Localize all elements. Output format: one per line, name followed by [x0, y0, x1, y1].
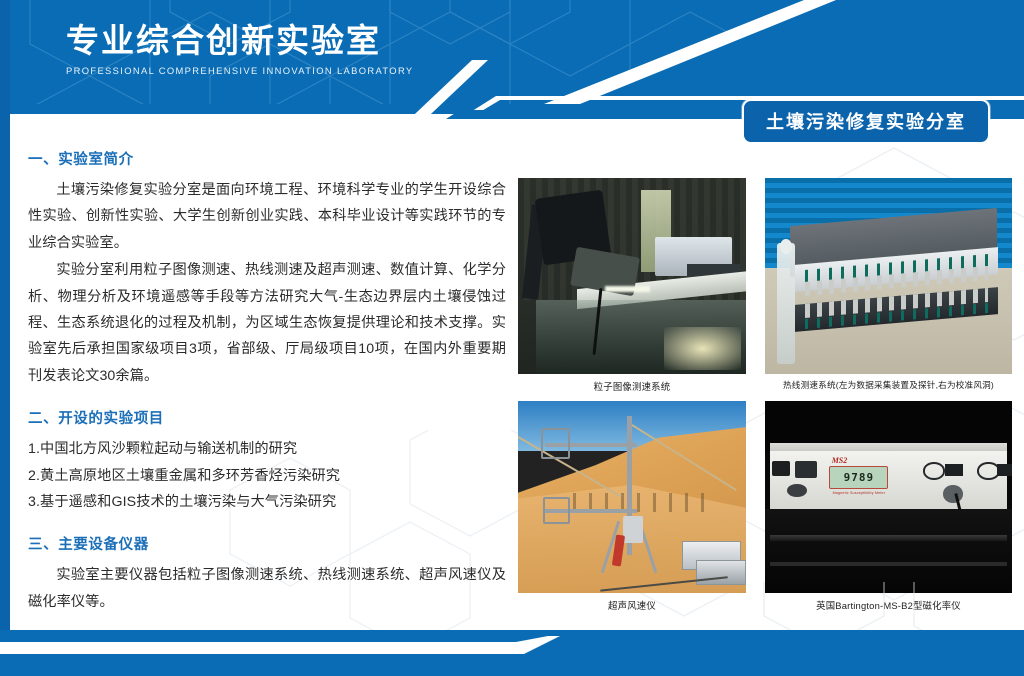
- page-header: 专业综合创新实验室 PROFESSIONAL COMPREHENSIVE INN…: [0, 0, 1024, 104]
- experiment-item-2: 2.黄土高原地区土壤重金属和多环芳香烃污染研究: [28, 463, 506, 489]
- photo-cell-ms2: MS2 9789 Magnetic Susceptibility Meter 英…: [765, 401, 1012, 612]
- title-block: 专业综合创新实验室 PROFESSIONAL COMPREHENSIVE INN…: [66, 22, 414, 76]
- left-accent-rail: [0, 0, 10, 676]
- content-area: 一、实验室简介 土壤污染修复实验分室是面向环境工程、环境科学专业的学生开设综合性…: [0, 130, 1024, 610]
- photo-sonic-anemometer: [518, 401, 746, 593]
- photo-row-top: 粒子图像测速系统 热线测速系统(左为数据采集装置及探针,右为校准风洞): [518, 178, 1012, 393]
- page-title: 专业综合创新实验室: [66, 22, 414, 60]
- ms2-brand-label: MS2: [832, 456, 848, 465]
- ms2-lcd: 9789: [829, 466, 888, 489]
- experiment-item-1: 1.中国北方风沙颗粒起动与输送机制的研究: [28, 436, 506, 462]
- section-one-paragraph-1: 土壤污染修复实验分室是面向环境工程、环境科学专业的学生开设综合性实验、创新性实验…: [28, 177, 506, 256]
- photo-ms2-meter: MS2 9789 Magnetic Susceptibility Meter: [765, 401, 1012, 593]
- photo-caption-hotwire: 热线测速系统(左为数据采集装置及探针,右为校准风洞): [765, 379, 1012, 391]
- photo-cell-piv: 粒子图像测速系统: [518, 178, 746, 393]
- section-heading-one: 一、实验室简介: [28, 148, 506, 169]
- photo-grid: 粒子图像测速系统 热线测速系统(左为数据采集装置及探针,右为校准风洞): [518, 178, 1012, 620]
- section-one-paragraph-2: 实验分室利用粒子图像测速、热线测速及超声测速、数值计算、化学分析、物理分析及环境…: [28, 257, 506, 389]
- photo-cell-hotwire: 热线测速系统(左为数据采集装置及探针,右为校准风洞): [765, 178, 1012, 393]
- photo-hotwire-system: [765, 178, 1012, 374]
- photo-caption-piv: 粒子图像测速系统: [518, 379, 746, 393]
- ms2-lcd-sublabel: Magnetic Susceptibility Meter: [829, 491, 888, 495]
- photo-piv-system: [518, 178, 746, 374]
- page-footer: [0, 610, 1024, 676]
- section-heading-two: 二、开设的实验项目: [28, 407, 506, 428]
- ms2-lcd-value: 9789: [844, 471, 875, 484]
- poster-page: 专业综合创新实验室 PROFESSIONAL COMPREHENSIVE INN…: [0, 0, 1024, 676]
- section-heading-three: 三、主要设备仪器: [28, 533, 506, 554]
- page-subtitle: PROFESSIONAL COMPREHENSIVE INNOVATION LA…: [66, 65, 414, 76]
- section-three-paragraph-1: 实验室主要仪器包括粒子图像测速系统、热线测速系统、超声风速仪及磁化率仪等。: [28, 562, 506, 615]
- text-column: 一、实验室简介 土壤污染修复实验分室是面向环境工程、环境科学专业的学生开设综合性…: [28, 148, 506, 616]
- section-title-badge: 土壤污染修复实验分室: [742, 99, 990, 144]
- photo-row-bottom: 超声风速仪 MS2 9789 Magnetic Susceptibility M…: [518, 401, 1012, 612]
- photo-cell-sonic: 超声风速仪: [518, 401, 746, 612]
- experiment-item-3: 3.基于遥感和GIS技术的土壤污染与大气污染研究: [28, 489, 506, 515]
